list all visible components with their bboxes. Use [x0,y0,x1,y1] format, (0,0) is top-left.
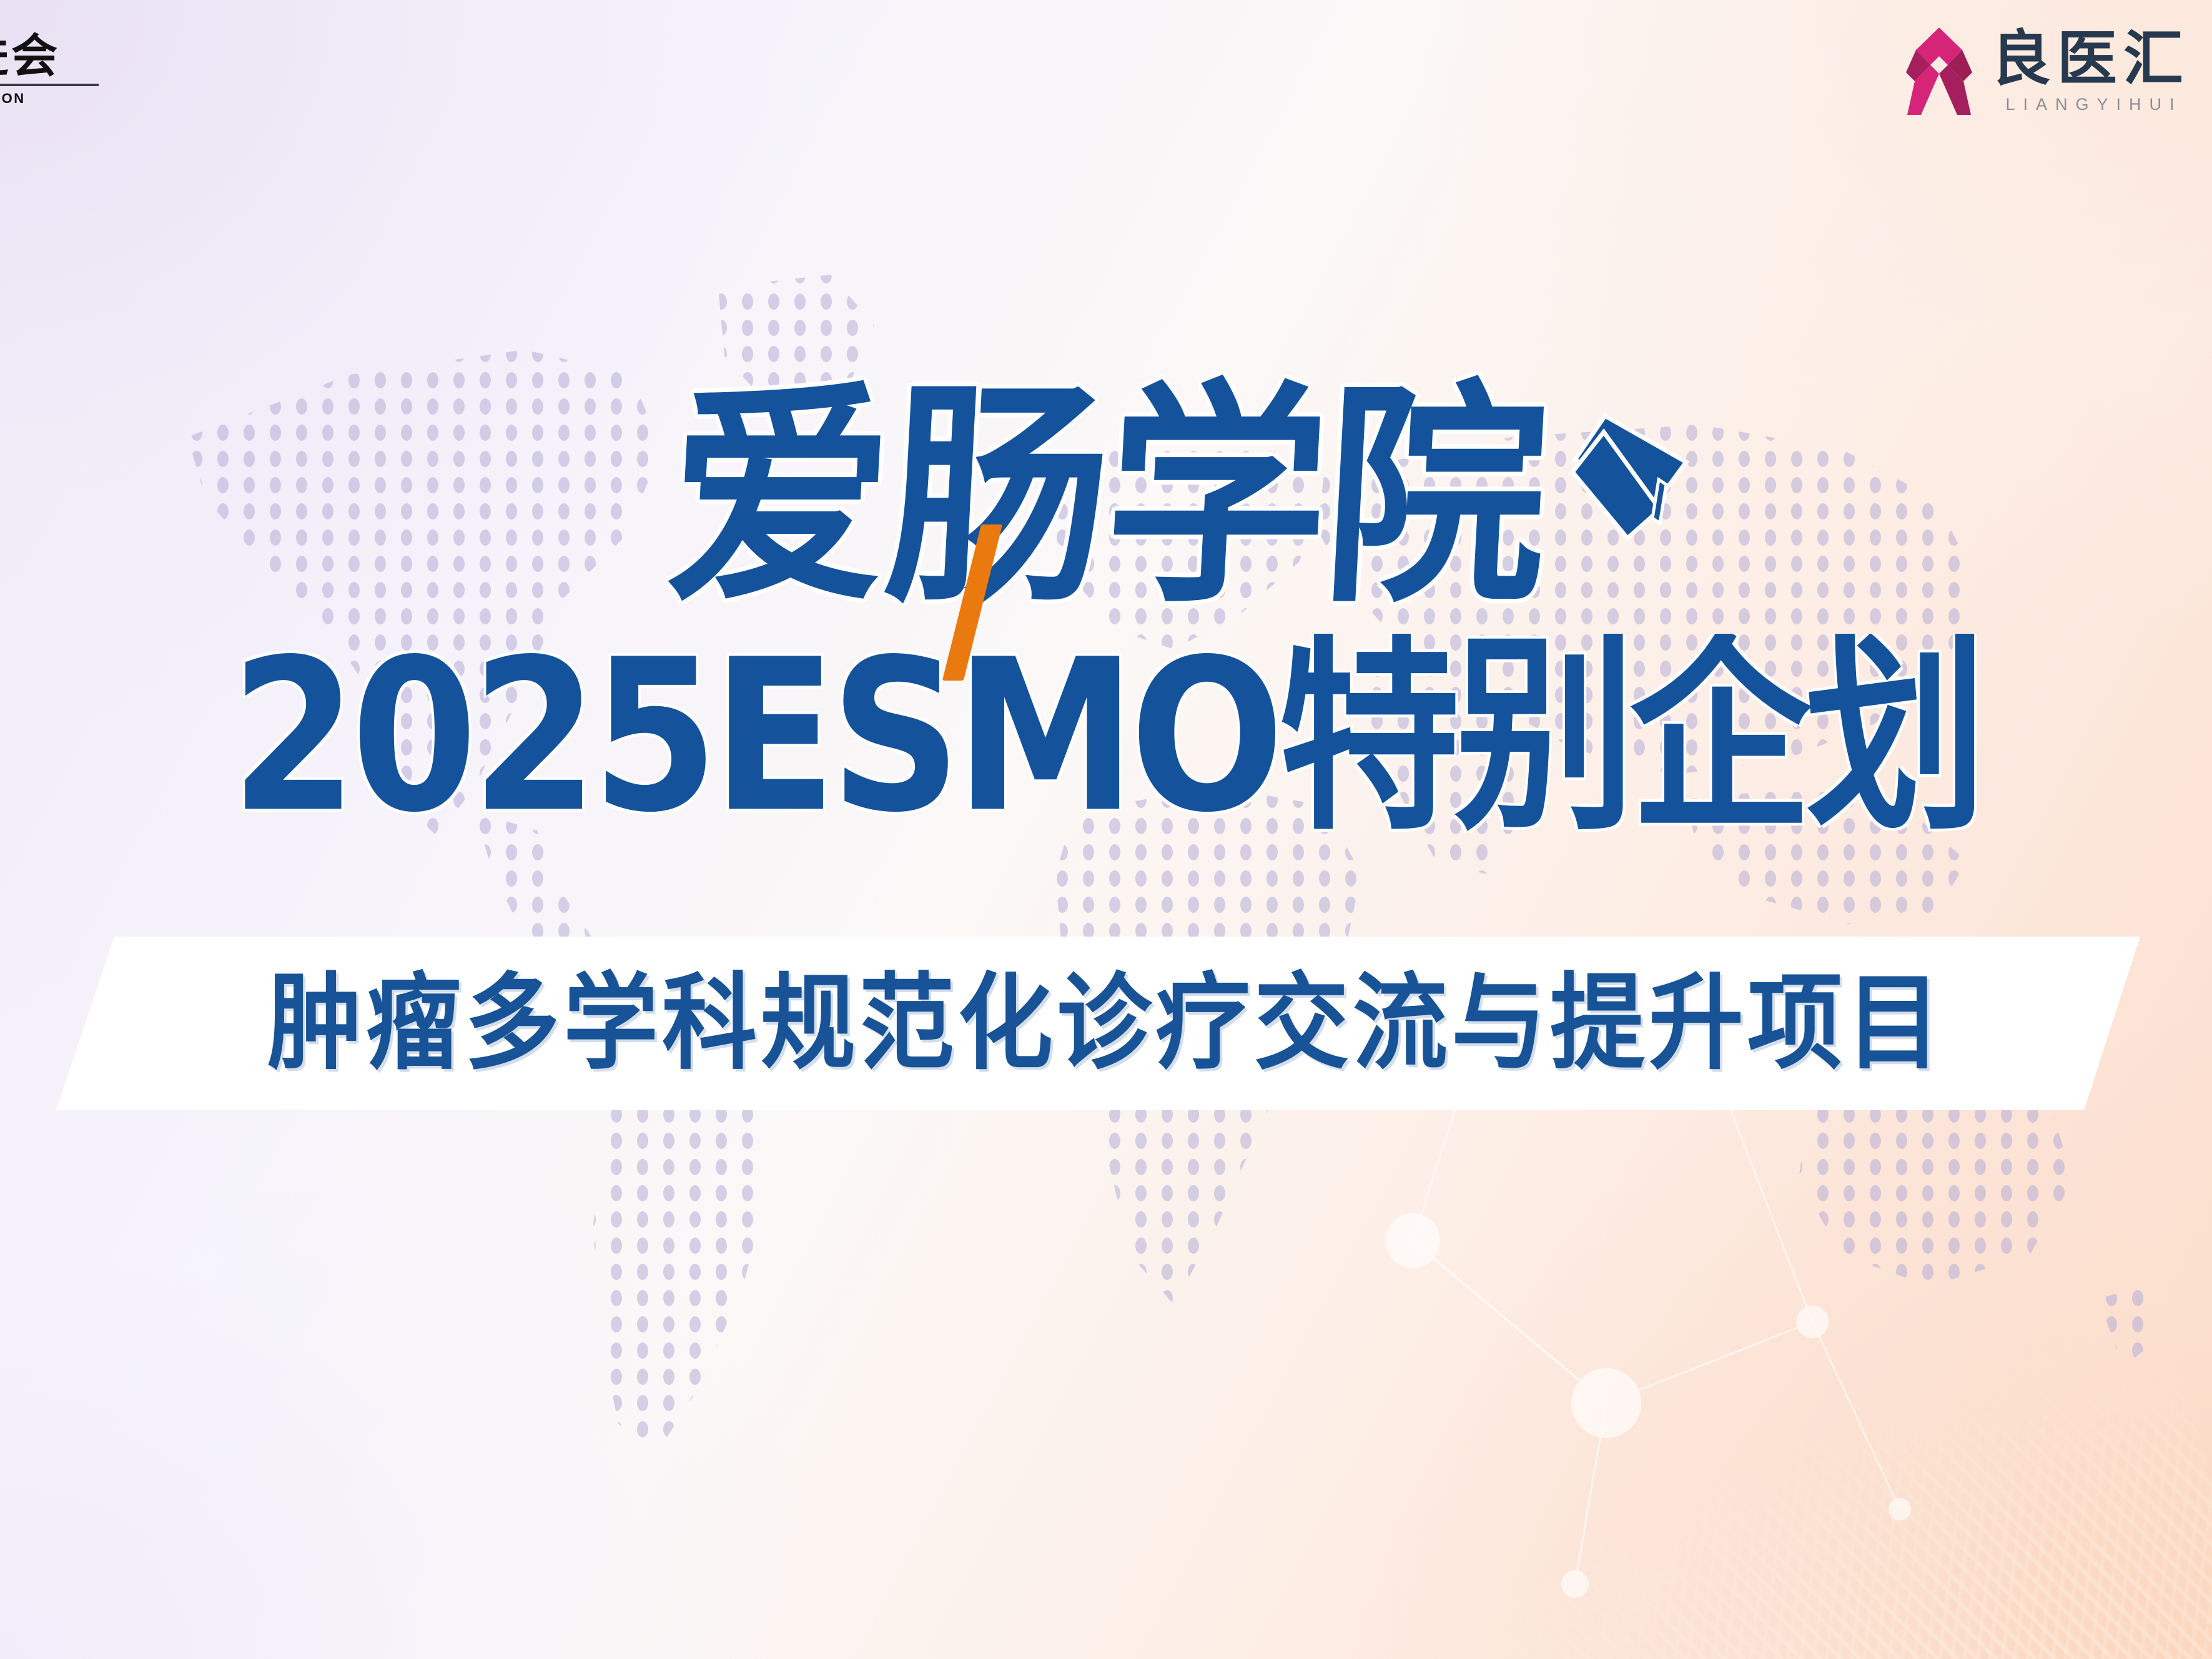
brand-name-en: LIANGYIHUI [1998,94,2182,115]
partner-logo-en-text: ASSOCIATION [0,89,101,108]
partner-logo-cn-text: 足进会 [0,30,101,82]
partner-logo-divider [0,84,99,86]
world-map-dot-pattern [0,0,2212,1659]
mesh-texture-decoration [899,1094,2212,1659]
headline-block: 2025ESMO特别企划 [0,634,2212,840]
subtitle-banner [0,937,2212,1110]
brand-name-cn: 良医汇 [1991,26,2190,91]
brand-text-block: 良医汇 LIANGYIHUI [1991,26,2190,115]
graduation-cap-icon [1499,405,1692,561]
main-title-block: 爱肠学院 [0,382,2212,632]
headline-text: 2025ESMO特别企划 [231,634,1982,840]
awareness-ribbon-icon [1902,24,1976,117]
page-title: 爱肠学院 [663,375,1550,620]
partner-association-logo: 足进会 ASSOCIATION [0,30,101,110]
orange-accent-stroke [942,524,1002,681]
poster-canvas: 足进会 ASSOCIATION 良医汇 LIANGYIHUI 爱肠学院 [0,0,2212,1659]
liangyihui-brand-logo[interactable]: 良医汇 LIANGYIHUI [1902,24,2190,117]
